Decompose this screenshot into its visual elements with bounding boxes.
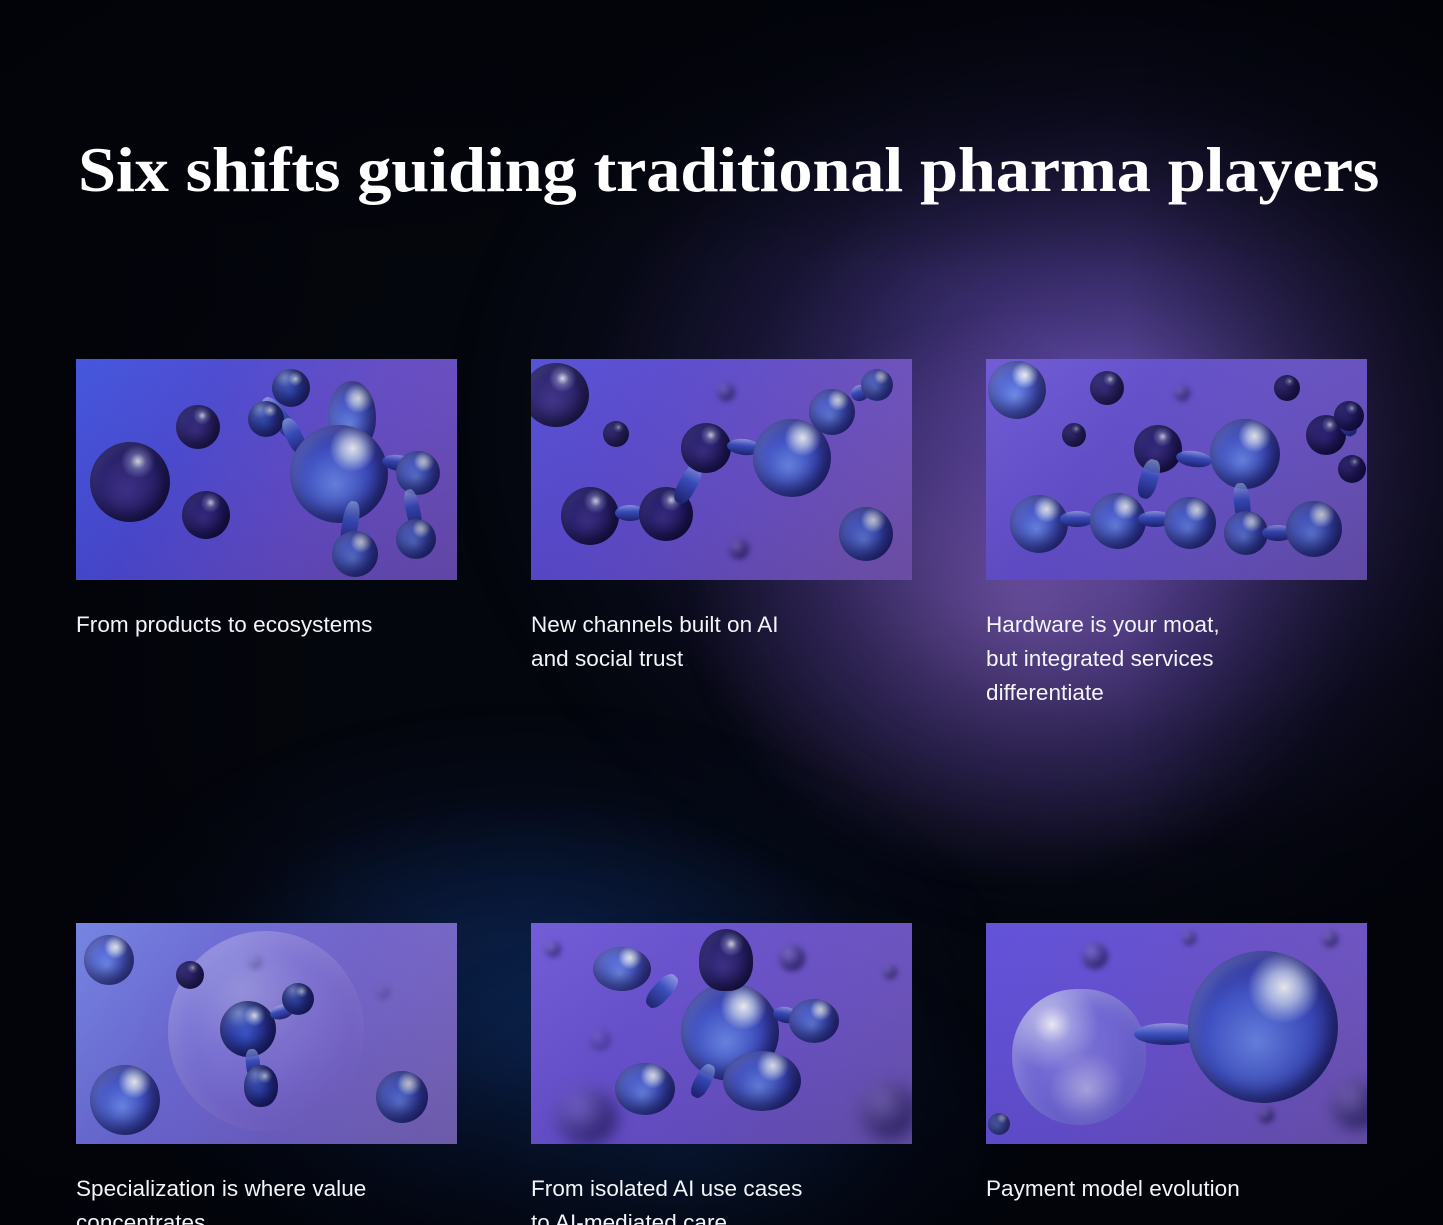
molecule-scene-2 — [531, 359, 912, 580]
molecule-image-3 — [986, 359, 1367, 580]
molecule-image-5 — [531, 923, 912, 1144]
molecule-scene-1 — [76, 359, 457, 580]
grid-item-2[interactable]: New channels built on AI and social trus… — [531, 359, 912, 711]
molecule-image-1 — [76, 359, 457, 580]
molecule-scene-4 — [76, 923, 457, 1144]
grid-row-1: From products to ecosystems — [76, 359, 1368, 711]
molecule-scene-6 — [986, 923, 1367, 1144]
grid-item-1-caption: From products to ecosystems — [76, 608, 457, 642]
grid-item-6[interactable]: Payment model evolution — [986, 923, 1367, 1225]
grid-item-3-caption: Hardware is your moat, but integrated se… — [986, 608, 1367, 711]
molecule-image-6 — [986, 923, 1367, 1144]
grid-item-4[interactable]: Specialization is where value concentrat… — [76, 923, 457, 1225]
grid-item-1[interactable]: From products to ecosystems — [76, 359, 457, 711]
molecule-scene-5 — [531, 923, 912, 1144]
grid-row-2: Specialization is where value concentrat… — [76, 923, 1368, 1225]
molecule-image-2 — [531, 359, 912, 580]
shifts-grid: From products to ecosystems — [76, 359, 1368, 1225]
page-title: Six shifts guiding traditional pharma pl… — [78, 136, 1443, 204]
grid-item-6-caption: Payment model evolution — [986, 1172, 1367, 1206]
grid-item-4-caption: Specialization is where value concentrat… — [76, 1172, 457, 1225]
molecule-image-4 — [76, 923, 457, 1144]
molecule-scene-3 — [986, 359, 1367, 580]
grid-item-5-caption: From isolated AI use cases to AI-mediate… — [531, 1172, 912, 1225]
slide-root: Six shifts guiding traditional pharma pl… — [0, 0, 1443, 1225]
grid-item-3[interactable]: Hardware is your moat, but integrated se… — [986, 359, 1367, 711]
grid-item-2-caption: New channels built on AI and social trus… — [531, 608, 912, 676]
grid-item-5[interactable]: From isolated AI use cases to AI-mediate… — [531, 923, 912, 1225]
